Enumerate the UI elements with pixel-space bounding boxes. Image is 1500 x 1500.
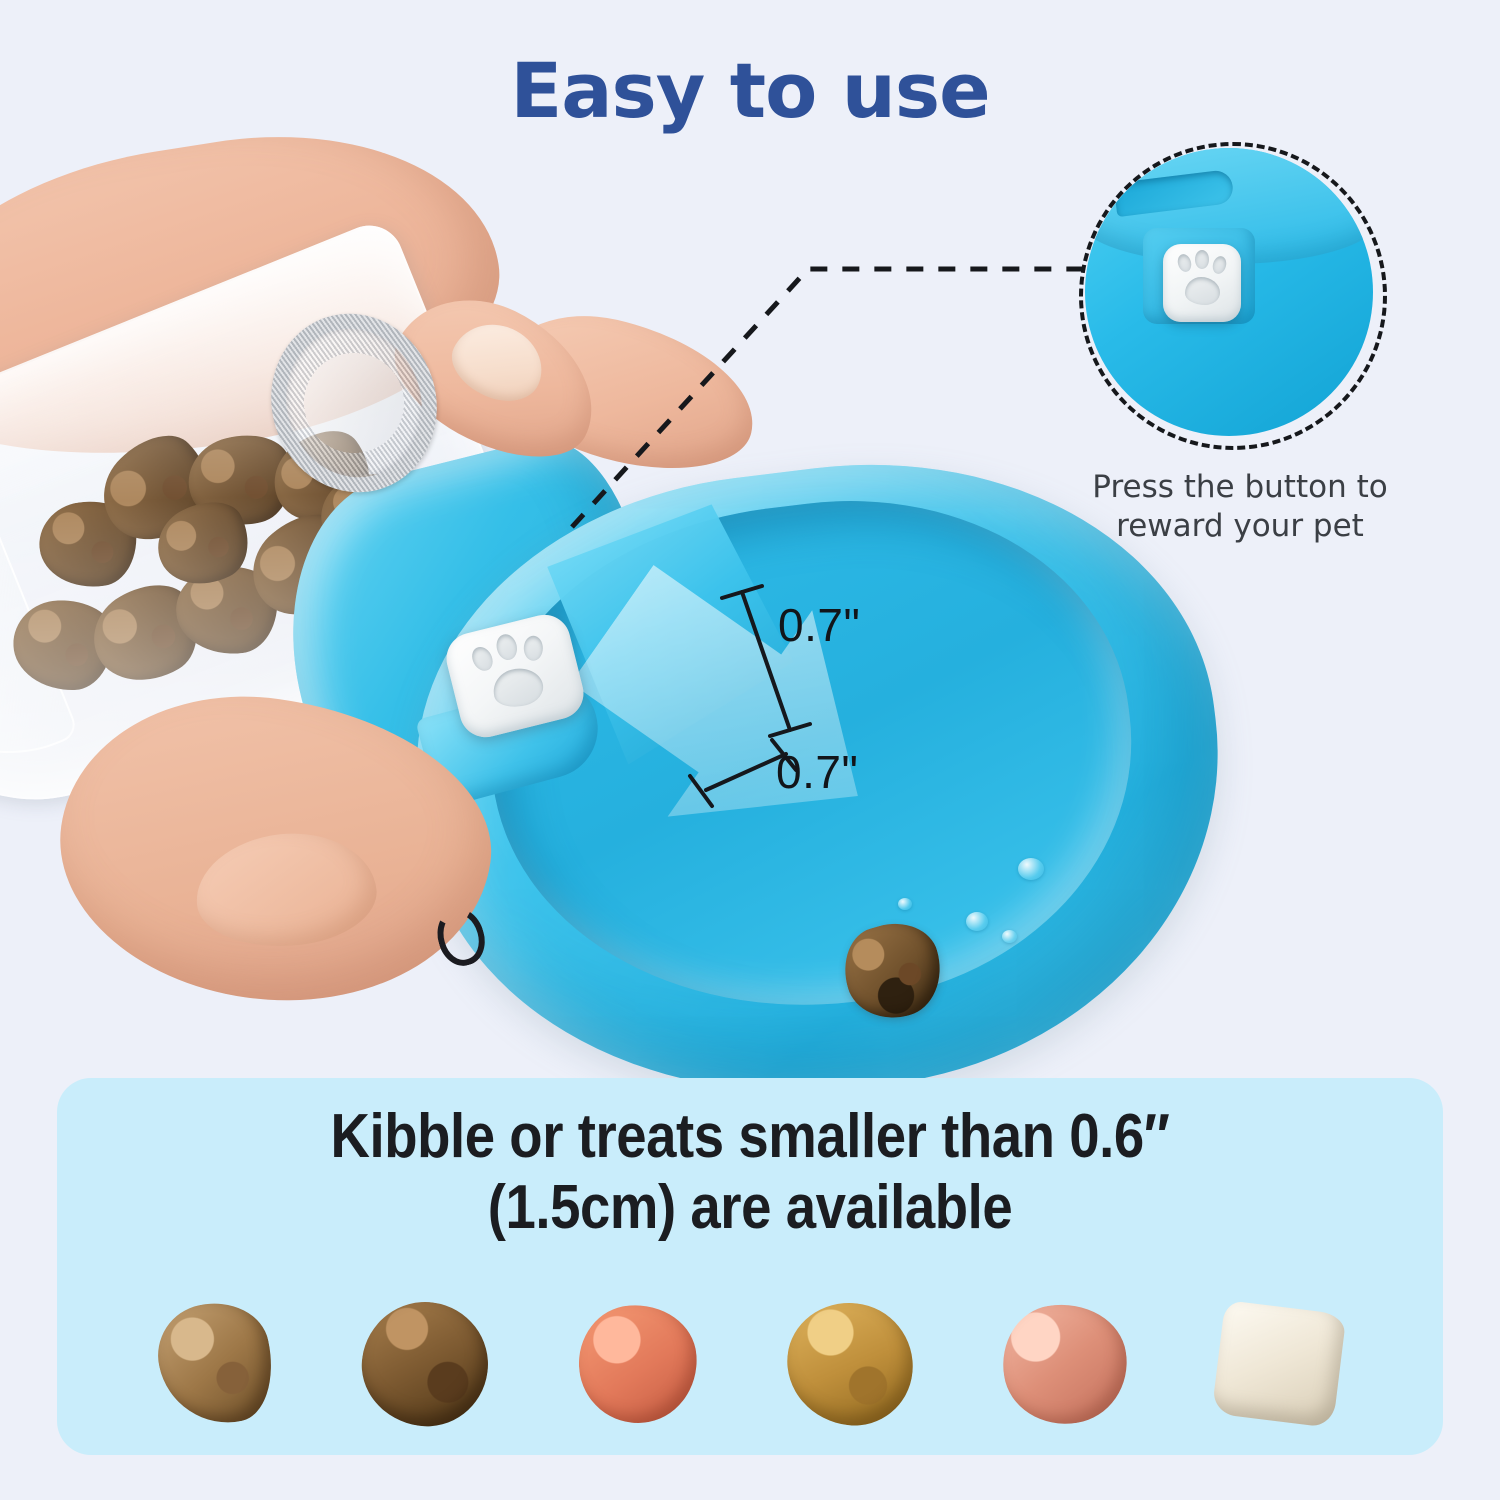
compatibility-text: Kibble or treats smaller than 0.6″ (1.5c…	[140, 1102, 1360, 1243]
compatibility-line1: Kibble or treats smaller than 0.6″	[140, 1102, 1360, 1173]
treat-sample-white-freeze-dried-cube	[1211, 1300, 1346, 1428]
anti-slip-bump	[1018, 858, 1044, 880]
treat-sample-row	[57, 1284, 1443, 1444]
callout-caption: Press the button to reward your pet	[1030, 468, 1450, 546]
dimension-label-height: 0.7"	[778, 598, 860, 652]
callout-caption-line1: Press the button to	[1030, 468, 1450, 507]
page-title: Easy to use	[0, 46, 1500, 135]
compatibility-line2: (1.5cm) are available	[140, 1173, 1360, 1244]
treat-sample-orange-chunk-treat	[574, 1300, 702, 1428]
anti-slip-bump	[1002, 930, 1017, 943]
anti-slip-bump	[898, 898, 912, 910]
treat-sample-tan-triangular-kibble	[149, 1293, 284, 1436]
callout-dashed-border	[1079, 142, 1387, 450]
compatibility-panel: Kibble or treats smaller than 0.6″ (1.5c…	[57, 1078, 1443, 1455]
treat-sample-dark-brown-round-kibble	[354, 1294, 496, 1434]
treat-sample-pink-disc-treat	[995, 1295, 1136, 1433]
callout-caption-line2: reward your pet	[1030, 507, 1450, 546]
treat-sample-golden-round-kibble	[781, 1297, 919, 1432]
anti-slip-bump	[966, 912, 988, 931]
dimension-label-width: 0.7"	[776, 745, 858, 799]
infographic-stage: Easy to use	[0, 0, 1500, 1500]
